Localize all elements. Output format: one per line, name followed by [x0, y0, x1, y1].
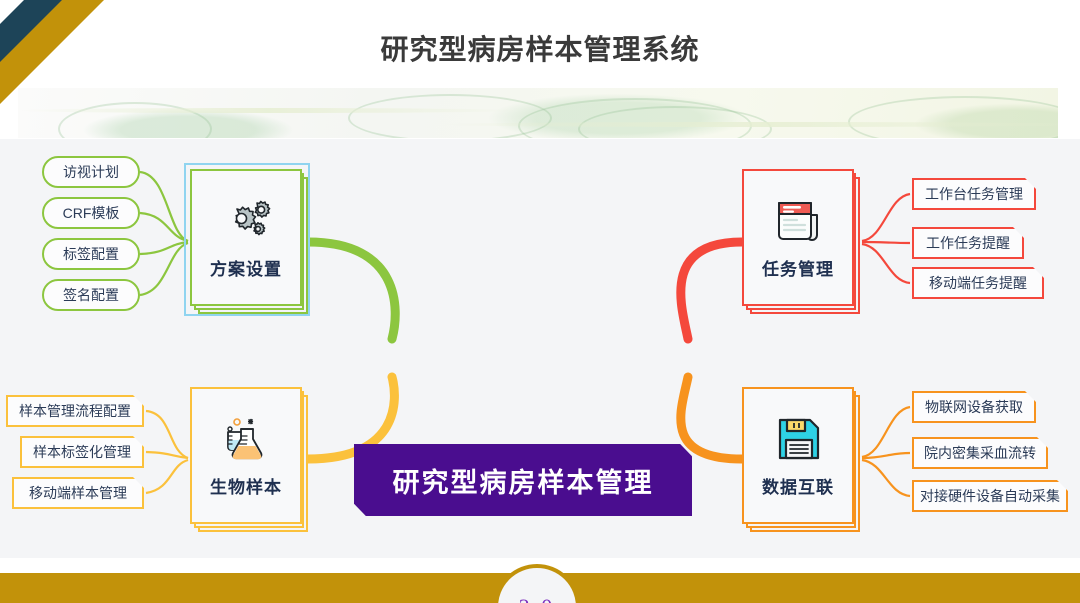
- topic-card-task[interactable]: 任务管理: [742, 169, 860, 314]
- topic-label-data: 数据互联: [762, 473, 834, 498]
- topic-card-bio[interactable]: 生物样本: [190, 387, 308, 532]
- card-face: 生物样本: [190, 387, 302, 524]
- swirl-ring-5: [848, 96, 1058, 138]
- version-badge: 2.0: [494, 564, 580, 603]
- leaf-node-bio-2[interactable]: 移动端样本管理: [12, 477, 144, 509]
- leaf-node-bio-0[interactable]: 样本管理流程配置: [6, 395, 144, 427]
- flask-beaker-icon: [217, 413, 275, 465]
- leaf-node-data-0[interactable]: 物联网设备获取: [912, 391, 1036, 423]
- topic-label-plan: 方案设置: [210, 255, 282, 280]
- mindmap-canvas: 研究型病房样本管理 2.0: [0, 139, 1080, 558]
- leaf-node-plan-0[interactable]: 访视计划: [42, 156, 140, 188]
- floppy-disk-icon: [769, 413, 827, 465]
- topic-card-data[interactable]: 数据互联: [742, 387, 860, 532]
- leaf-node-plan-2[interactable]: 标签配置: [42, 238, 140, 270]
- news-document-icon: [769, 195, 827, 247]
- version-badge-label: 2.0: [519, 594, 556, 603]
- leaf-node-data-2[interactable]: 对接硬件设备自动采集: [912, 480, 1068, 512]
- central-topic-label: 研究型病房样本管理: [393, 461, 654, 500]
- corner-notch: [0, 0, 24, 24]
- leaf-node-task-2[interactable]: 移动端任务提醒: [912, 267, 1044, 299]
- slide-root: 研究型病房样本管理系统: [0, 0, 1080, 603]
- page-title: 研究型病房样本管理系统: [0, 28, 1080, 68]
- topic-label-task: 任务管理: [762, 255, 834, 280]
- topic-card-plan[interactable]: 方案设置: [190, 169, 308, 314]
- card-face: 数据互联: [742, 387, 854, 524]
- central-topic-banner: 研究型病房样本管理: [354, 444, 692, 516]
- topic-label-bio: 生物样本: [210, 473, 282, 498]
- streak-1: [18, 108, 518, 113]
- leaf-node-task-0[interactable]: 工作台任务管理: [912, 178, 1036, 210]
- card-face: 方案设置: [190, 169, 302, 306]
- card-face: 任务管理: [742, 169, 854, 306]
- gears-icon: [217, 195, 275, 247]
- leaf-node-data-1[interactable]: 院内密集采血流转: [912, 437, 1048, 469]
- leaf-node-bio-1[interactable]: 样本标签化管理: [20, 436, 144, 468]
- leaf-node-task-1[interactable]: 工作任务提醒: [912, 227, 1024, 259]
- leaf-node-plan-1[interactable]: CRF模板: [42, 197, 140, 229]
- header-decor-band: [18, 88, 1058, 138]
- leaf-node-plan-3[interactable]: 签名配置: [42, 279, 140, 311]
